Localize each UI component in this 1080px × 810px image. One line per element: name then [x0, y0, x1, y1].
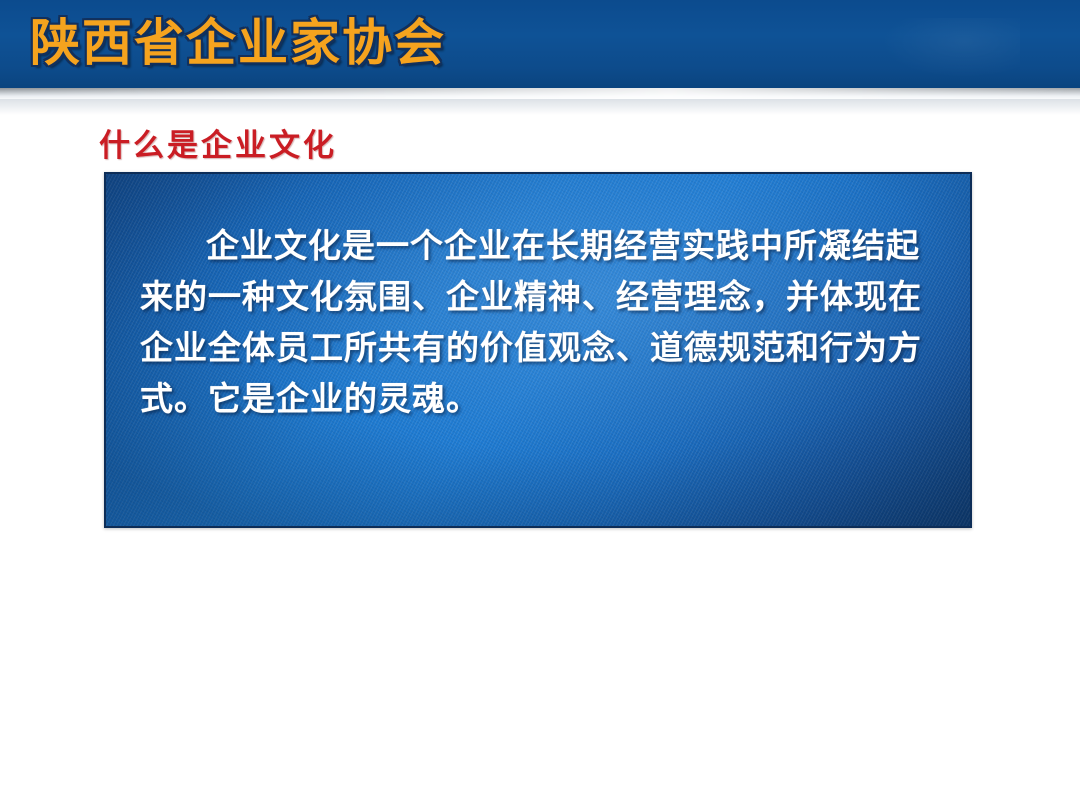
figure-arm — [393, 542, 406, 558]
figure-mid-right-a — [706, 527, 724, 603]
section-title: 什么是企业文化 — [99, 120, 337, 165]
figure-arm — [784, 540, 795, 553]
figure-far-right-large — [960, 570, 1002, 745]
figure-leg — [712, 569, 720, 603]
telescope-lens — [827, 539, 834, 545]
figure-arm — [196, 570, 204, 583]
figure-shadow — [774, 743, 879, 752]
figure-leg — [559, 559, 565, 585]
figure-head — [603, 542, 609, 550]
metal-divider-strip — [0, 88, 1080, 99]
telescope-icon — [663, 533, 676, 543]
figure-shadow — [603, 609, 653, 613]
figure-shadow — [665, 584, 702, 587]
definition-text-box: 企业文化是一个企业在长期经营实践中所凝结起来的一种文化氛围、企业精神、经营理念，… — [104, 172, 972, 528]
figure-torso — [710, 545, 721, 572]
figure-arm — [624, 573, 647, 611]
ground-right-highlight — [700, 503, 1080, 810]
figure-head — [491, 558, 498, 567]
figure-mid-left — [400, 533, 418, 609]
telescope-lens — [618, 565, 634, 580]
figure-shirt — [778, 623, 784, 656]
figure-leg — [299, 664, 319, 750]
figure-leg — [632, 647, 649, 721]
figure-arm — [661, 531, 669, 545]
figure-leg — [494, 594, 499, 634]
figure-arm — [822, 544, 834, 559]
figure-skirt — [871, 596, 882, 615]
figure-tie — [980, 619, 983, 649]
figure-leg — [489, 594, 494, 634]
telescope-lens — [595, 533, 603, 540]
figure-leg — [772, 669, 790, 745]
figure-shadow — [634, 719, 737, 728]
figure-woman-right — [866, 552, 887, 639]
figure-shadow — [301, 747, 421, 757]
figure-torso — [870, 573, 883, 604]
figure-shadow — [712, 602, 760, 606]
figure-head — [795, 542, 800, 549]
figure-shadow — [834, 605, 878, 609]
figure-arm — [598, 537, 609, 555]
figure-far-left-small — [195, 565, 209, 622]
figure-shadow — [491, 633, 547, 638]
figure-leg — [602, 574, 610, 610]
figure-head — [407, 544, 413, 552]
figure-arm — [699, 536, 712, 552]
figure-head — [834, 547, 840, 554]
figure-arm — [791, 539, 800, 554]
figure-arm — [944, 590, 975, 627]
figure-torso — [663, 540, 672, 561]
figure-arm — [589, 539, 603, 556]
telescope-icon — [198, 572, 211, 582]
figure-head — [775, 603, 788, 621]
figure-arm — [268, 582, 302, 622]
figure-head — [302, 589, 317, 609]
telescope-lens — [865, 556, 873, 564]
figure-leg — [199, 596, 205, 622]
telescope-icon — [832, 545, 848, 557]
figure-arm — [964, 586, 988, 626]
figure-leg — [711, 569, 719, 603]
figure-leg — [794, 567, 801, 595]
figure-small-upper-b — [660, 526, 674, 585]
telescope-icon — [710, 536, 727, 549]
figure-torso — [600, 549, 612, 578]
figure-arm — [556, 533, 564, 546]
figure-foreground-right — [760, 578, 800, 745]
header-banner: 陕西省企业家协会 — [0, 0, 1080, 88]
figure-arm — [858, 562, 873, 580]
telescope-icon — [629, 578, 666, 606]
figure-leg — [876, 600, 881, 639]
figure-torso — [558, 542, 567, 563]
figure-leg — [973, 666, 991, 745]
figure-arm — [868, 560, 880, 580]
figure-shadow — [200, 621, 236, 624]
telescope-icon — [488, 556, 508, 571]
figure-head — [975, 596, 989, 614]
figure-shirt — [637, 602, 643, 635]
figure-small-upper-c — [790, 533, 805, 596]
figure-woman-mid-left — [483, 545, 505, 634]
figure-leg — [872, 600, 877, 639]
figure-leg — [299, 664, 319, 750]
figure-torso — [294, 606, 323, 674]
figure-tie — [307, 613, 310, 645]
figure-head — [560, 537, 565, 543]
figure-arm — [708, 534, 718, 552]
telescope-lens — [482, 549, 491, 557]
figure-head — [874, 565, 881, 574]
figure-arm — [289, 577, 315, 621]
figure-arm — [190, 572, 200, 584]
figure-mid-center — [596, 530, 615, 610]
figure-leg — [632, 647, 649, 721]
slide-canvas: 陕西省企业家协会 什么是企业文化 企业文化是一个企业在长期经营实践中所凝结起来的… — [0, 0, 1080, 810]
telescope-icon — [558, 535, 571, 545]
telescope-lens — [705, 530, 712, 537]
figure-arm — [830, 542, 840, 558]
telescope-lens — [789, 536, 795, 542]
figure-shadow — [873, 638, 928, 643]
figure-arm — [485, 553, 497, 574]
figure-head — [665, 535, 670, 541]
telescope-lens — [399, 536, 406, 543]
figure-head — [713, 538, 719, 546]
figure-shirt — [305, 611, 311, 649]
figure-torso — [404, 551, 415, 578]
figure-arm — [475, 555, 491, 574]
figure-leg — [602, 574, 610, 610]
figure-arm — [550, 535, 560, 547]
telescope-lens — [958, 578, 975, 594]
telescope-lens — [659, 529, 665, 534]
telescope-icon — [793, 541, 807, 552]
telescope-lens — [194, 567, 200, 572]
telescope-lens — [758, 585, 774, 600]
foreground-haze — [0, 620, 1080, 810]
telescope-icon — [404, 542, 421, 555]
figure-tie — [779, 625, 782, 653]
figure-torso — [793, 548, 802, 571]
figure-shirt — [979, 617, 985, 652]
telescope-icon — [600, 540, 618, 553]
figure-shadow — [406, 608, 454, 612]
figure-leg — [199, 596, 205, 622]
figure-small-upper-a — [555, 528, 569, 585]
figure-mid-right-b — [828, 536, 845, 606]
figure-head — [634, 583, 647, 600]
figure-leg — [795, 567, 802, 595]
figure-arm — [745, 597, 774, 632]
figure-leg — [972, 666, 990, 745]
telescope-icon — [769, 599, 807, 627]
figure-arm — [402, 540, 412, 558]
figure-shadow — [975, 742, 1080, 752]
telescope-lens — [554, 530, 560, 535]
organization-title: 陕西省企业家协会 — [30, 6, 446, 80]
ground-foreground-ridge — [300, 659, 1080, 810]
figure-leg — [405, 575, 413, 609]
earth-dome-ground — [0, 503, 1080, 810]
figure-foreground-left — [285, 560, 331, 750]
figure-leg — [772, 669, 790, 745]
figure-arm — [764, 593, 787, 632]
figure-shadow — [795, 595, 834, 598]
figure-leg — [664, 558, 670, 585]
figure-arm — [655, 533, 665, 545]
figure-torso — [198, 579, 207, 600]
figure-head — [200, 574, 205, 580]
figure-torso — [968, 612, 994, 675]
figure-leg — [833, 574, 840, 606]
figure-skirt — [488, 590, 500, 610]
figure-leg — [833, 574, 840, 606]
telescope-icon — [969, 592, 1009, 621]
figure-shadow — [560, 584, 596, 587]
figure-arm — [605, 577, 634, 612]
metal-divider-fade — [0, 99, 1080, 115]
figure-leg — [406, 575, 414, 609]
figure-torso — [831, 553, 842, 578]
figure-leg — [559, 559, 565, 585]
ground-left-shading — [0, 503, 610, 810]
figure-torso — [768, 618, 793, 678]
telescope-icon — [871, 563, 891, 578]
figure-torso — [487, 566, 500, 598]
figure-tie — [639, 604, 642, 632]
telescope-lens — [283, 568, 301, 585]
definition-paragraph: 企业文化是一个企业在长期经营实践中所凝结起来的一种文化氛围、企业精神、经营理念，… — [140, 220, 946, 424]
telescope-icon — [295, 583, 338, 615]
figure-foreground-center — [620, 558, 660, 721]
figure-torso — [628, 597, 653, 656]
figure-leg — [664, 558, 670, 585]
